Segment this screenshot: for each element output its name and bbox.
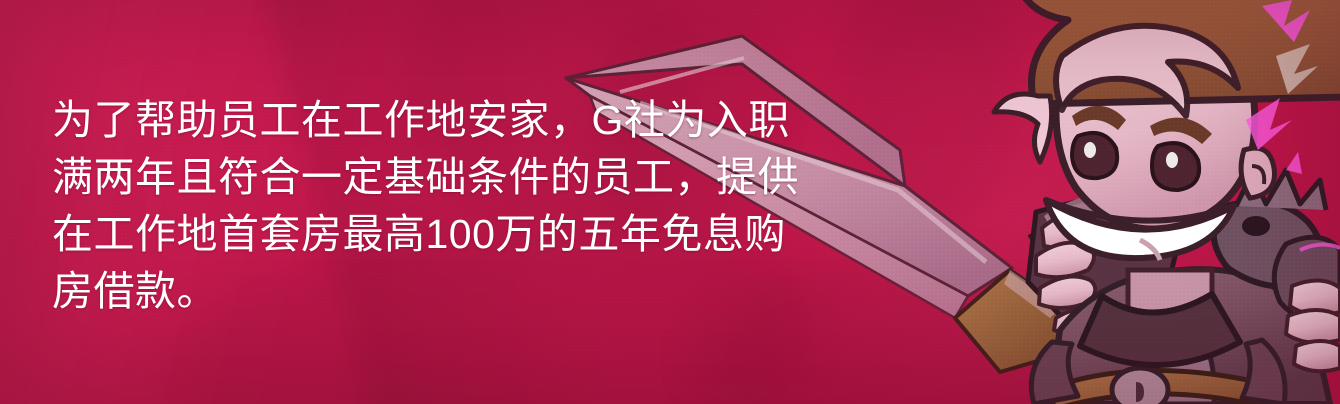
banner-copy: 为了帮助员工在工作地安家，G社为入职 满两年且符合一定基础条件的员工，提供 在工… [52, 92, 812, 320]
promo-banner: 为了帮助员工在工作地安家，G社为入职 满两年且符合一定基础条件的员工，提供 在工… [0, 0, 1340, 404]
banner-body-text: 为了帮助员工在工作地安家，G社为入职 满两年且符合一定基础条件的员工，提供 在工… [52, 92, 812, 320]
